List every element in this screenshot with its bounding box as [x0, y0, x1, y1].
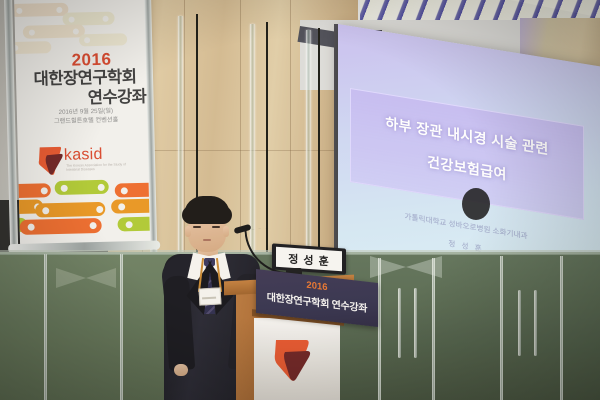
name-badge-text-line [202, 297, 216, 300]
glass-door-handle[interactable] [398, 288, 401, 358]
glass-door-handle[interactable] [518, 290, 521, 356]
dark-object [462, 188, 490, 220]
kasid-wordmark: kasid [64, 146, 103, 165]
glass-mullion [378, 258, 381, 400]
speaker-ear-left [185, 226, 191, 237]
speaker-hair-fringe [182, 206, 232, 224]
speaker-hand-left [174, 364, 188, 376]
name-badge [199, 287, 222, 305]
glass-mullion [432, 258, 435, 400]
roll-up-banner: 2016 대한장연구학회 연수강좌 2016년 9월 25일(일) 그랜드힐튼호… [14, 0, 156, 254]
speaker-eye-left [193, 226, 201, 228]
kasid-tagline: The Korean Association for the Study of … [66, 162, 136, 173]
glass-mullion [44, 254, 47, 400]
speaker-ear-right [223, 226, 229, 237]
kasid-flame-logo [272, 336, 318, 384]
black-rod [266, 22, 268, 262]
glass-mullion [120, 254, 123, 400]
glass-mullion [500, 256, 503, 400]
glass-door-handle[interactable] [534, 290, 537, 356]
conference-photo: 하부 장관 내시경 시술 관련 건강보험급여 가톨릭대학교 성바오로병원 소화기… [0, 0, 600, 400]
black-rod [318, 28, 320, 264]
banner-chain-art-bottom [14, 178, 154, 248]
glass-mullion [560, 256, 563, 400]
glass-rod [306, 30, 311, 266]
glass-door-handle[interactable] [414, 288, 417, 358]
speaker-mouth [203, 239, 211, 241]
banner-panel: 2016 대한장연구학회 연수강좌 2016년 9월 25일(일) 그랜드힐튼호… [14, 0, 154, 248]
speaker-eye-right [212, 226, 220, 228]
banner-subtitle-venue: 그랜드힐튼호텔 컨벤션홀 [25, 114, 147, 126]
